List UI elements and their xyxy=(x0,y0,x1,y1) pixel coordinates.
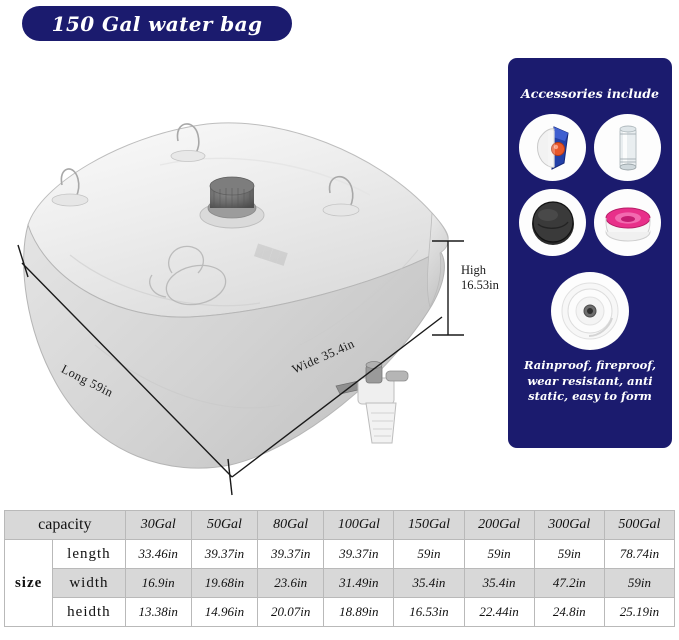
white-lid-icon xyxy=(557,278,623,344)
height-col-7: 25.19in xyxy=(604,598,674,627)
dimension-high-name: High xyxy=(461,263,499,278)
table-row-header: capacity 30Gal 50Gal 80Gal 100Gal 150Gal… xyxy=(5,511,675,540)
width-col-1: 19.68in xyxy=(191,569,257,598)
length-col-0: 33.46in xyxy=(125,540,191,569)
pink-ptfe-tape-icon xyxy=(599,194,657,252)
length-col-4: 59in xyxy=(394,540,464,569)
length-col-1: 39.37in xyxy=(191,540,257,569)
row-label-height: heidth xyxy=(53,598,125,627)
black-cap-icon xyxy=(524,194,582,252)
capacity-col-1: 50Gal xyxy=(191,511,257,540)
capacity-col-5: 200Gal xyxy=(464,511,534,540)
dimension-label-high: High 16.53in xyxy=(461,263,499,293)
table-row-width: width 16.9in 19.68in 23.6in 31.49in 35.4… xyxy=(5,569,675,598)
accessory-ball-valve xyxy=(519,114,586,181)
accessory-white-lid xyxy=(551,272,629,350)
width-col-3: 31.49in xyxy=(324,569,394,598)
length-col-7: 78.74in xyxy=(604,540,674,569)
height-col-6: 24.8in xyxy=(534,598,604,627)
height-col-5: 22.44in xyxy=(464,598,534,627)
accessory-ptfe-tape xyxy=(594,189,661,256)
height-col-0: 13.38in xyxy=(125,598,191,627)
width-col-6: 47.2in xyxy=(534,569,604,598)
product-illustration: ████ xyxy=(0,45,500,500)
row-label-width: width xyxy=(53,569,125,598)
height-col-3: 18.89in xyxy=(324,598,394,627)
ball-valve-icon xyxy=(524,119,582,177)
capacity-col-2: 80Gal xyxy=(258,511,324,540)
size-label: size xyxy=(5,540,53,627)
length-col-6: 59in xyxy=(534,540,604,569)
width-col-2: 23.6in xyxy=(258,569,324,598)
length-col-3: 39.37in xyxy=(324,540,394,569)
accessory-clear-connector xyxy=(594,114,661,181)
capacity-col-7: 500Gal xyxy=(604,511,674,540)
caption-line-2: wear resistant, anti xyxy=(516,374,664,389)
caption-line-3: static, easy to form xyxy=(516,389,664,404)
accessories-caption: Rainproof, fireproof, wear resistant, an… xyxy=(516,358,664,404)
clear-connector-icon xyxy=(599,119,657,177)
length-col-2: 39.37in xyxy=(258,540,324,569)
table-row-height: heidth 13.38in 14.96in 20.07in 18.89in 1… xyxy=(5,598,675,627)
height-col-4: 16.53in xyxy=(394,598,464,627)
capacity-header: capacity xyxy=(5,511,126,540)
water-bag-drawing: ████ xyxy=(0,45,500,500)
accessories-panel: Accessories include xyxy=(508,58,672,448)
capacity-col-3: 100Gal xyxy=(324,511,394,540)
accessories-grid xyxy=(519,114,661,256)
width-col-4: 35.4in xyxy=(394,569,464,598)
width-col-5: 35.4in xyxy=(464,569,534,598)
page-title: 150 Gal water bag xyxy=(52,12,263,36)
dimension-high-value: 16.53in xyxy=(461,278,499,293)
specification-table: capacity 30Gal 50Gal 80Gal 100Gal 150Gal… xyxy=(4,510,675,627)
capacity-col-0: 30Gal xyxy=(125,511,191,540)
caption-line-1: Rainproof, fireproof, xyxy=(516,358,664,373)
height-col-2: 20.07in xyxy=(258,598,324,627)
length-col-5: 59in xyxy=(464,540,534,569)
table-row-length: size length 33.46in 39.37in 39.37in 39.3… xyxy=(5,540,675,569)
width-col-0: 16.9in xyxy=(125,569,191,598)
accessories-heading: Accessories include xyxy=(508,86,672,101)
capacity-col-4: 150Gal xyxy=(394,511,464,540)
row-label-length: length xyxy=(53,540,125,569)
height-col-1: 14.96in xyxy=(191,598,257,627)
accessory-black-cap xyxy=(519,189,586,256)
width-col-7: 59in xyxy=(604,569,674,598)
product-title-badge: 150 Gal water bag xyxy=(22,6,292,41)
capacity-col-6: 300Gal xyxy=(534,511,604,540)
